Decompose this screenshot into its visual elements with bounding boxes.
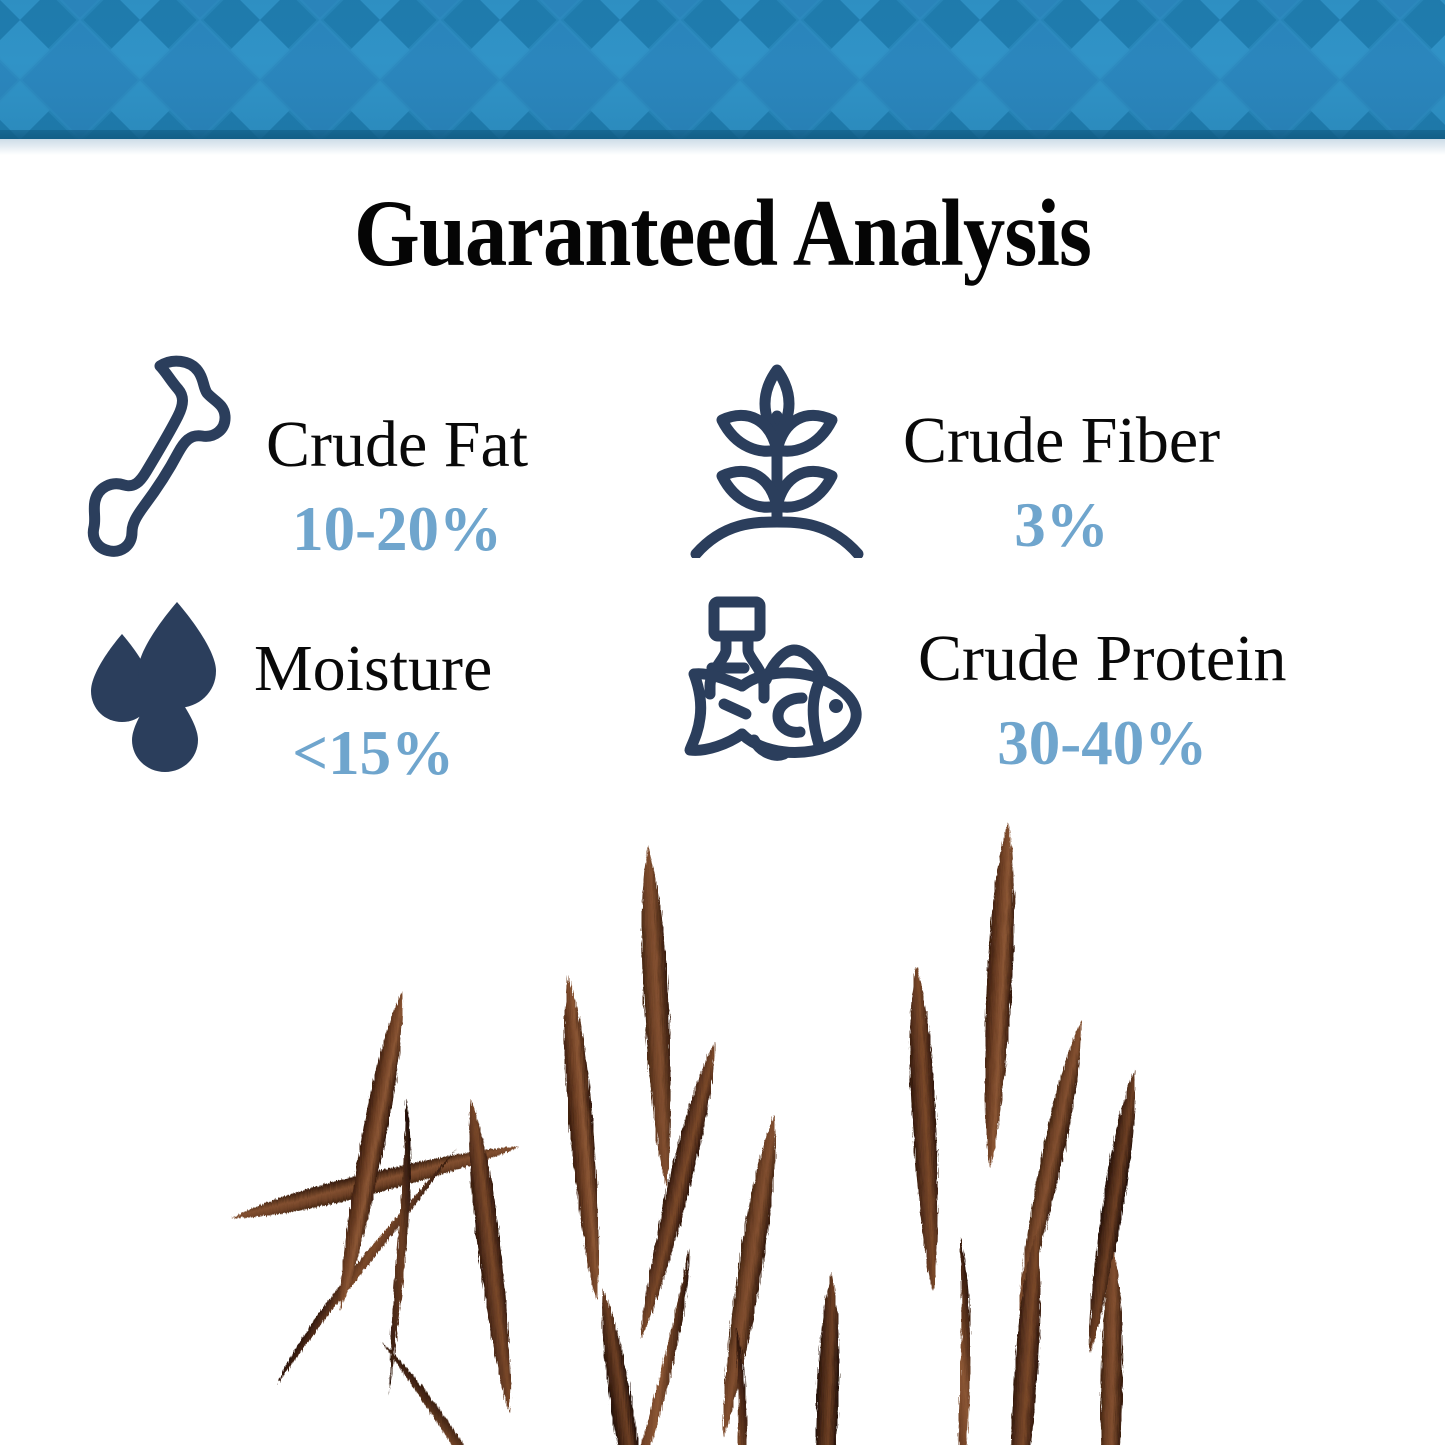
guaranteed-analysis-grid: Crude Fat 10-20% Crude Fiber 3 (70, 352, 1390, 812)
fact-crude-fiber: Crude Fiber 3% (690, 358, 1220, 563)
fact-crude-fiber-text: Crude Fiber 3% (903, 358, 1220, 557)
wheat-plant-icon (690, 358, 865, 563)
plaid-pattern (0, 0, 1445, 139)
fact-label: Crude Fat (266, 412, 528, 478)
fact-value: <15% (292, 722, 454, 785)
fact-label: Crude Protein (918, 626, 1286, 692)
header-dropshadow (0, 139, 1445, 155)
fact-value: 30-40% (997, 712, 1207, 775)
fact-label: Moisture (254, 636, 492, 702)
fact-value: 10-20% (292, 498, 502, 561)
fact-crude-protein: Crude Protein 30-40% (680, 594, 1286, 775)
header-bottom-edge (0, 130, 1445, 139)
fact-moisture: Moisture <15% (90, 602, 492, 785)
water-droplets-icon (90, 602, 218, 779)
product-photo-treat-sticks (195, 810, 1255, 1445)
bone-icon (86, 354, 236, 564)
fish-oil-bottle-icon (680, 594, 880, 767)
fact-crude-fat-text: Crude Fat 10-20% (266, 354, 528, 561)
treat-sticks-illustration (195, 810, 1255, 1445)
fact-moisture-text: Moisture <15% (254, 602, 492, 785)
fact-crude-protein-text: Crude Protein 30-40% (918, 594, 1286, 775)
page-title: Guaranteed Analysis (79, 186, 1365, 281)
fact-value: 3% (1014, 494, 1109, 557)
fact-label: Crude Fiber (903, 408, 1220, 474)
fact-crude-fat: Crude Fat 10-20% (86, 354, 528, 564)
header-plaid-banner (0, 0, 1445, 139)
